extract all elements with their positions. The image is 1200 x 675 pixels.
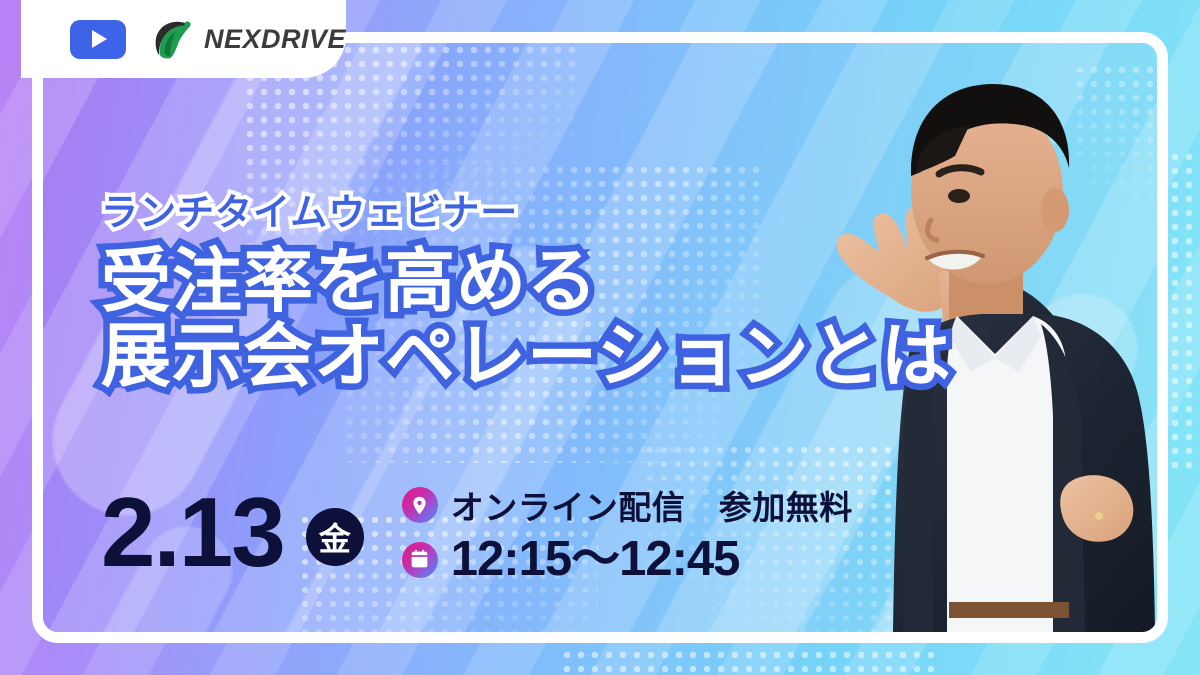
calendar-icon (402, 542, 438, 578)
event-date: 2.13 (101, 488, 284, 576)
weekday-badge: 金 (306, 508, 364, 566)
event-details: オンライン配信 参加無料 12:15〜12:45 (402, 481, 853, 584)
headline-block: ランチタイムウェビナー 受注率を高める 展示会オペレーションとは (101, 193, 952, 396)
location-row: オンライン配信 参加無料 (402, 481, 853, 529)
map-pin-icon (402, 487, 438, 523)
schedule-block: 2.13 金 オンライン配信 参加無料 12:15〜12:45 (101, 481, 853, 584)
webinar-banner: ランチタイムウェビナー 受注率を高める 展示会オペレーションとは 2.13 金 … (0, 0, 1200, 675)
nexdrive-leaf-icon (150, 19, 194, 59)
brand-name: NEXDRIVE (204, 24, 346, 55)
headline-line-1: 受注率を高める (101, 246, 952, 317)
location-text: オンライン配信 参加無料 (451, 481, 853, 529)
halftone-dots-right (1168, 150, 1200, 470)
play-triangle-icon (92, 30, 107, 48)
halftone-dots-bottom (560, 648, 940, 675)
headline-line-2: 展示会オペレーションとは (101, 321, 952, 392)
play-video-icon[interactable] (70, 20, 126, 59)
headline: 受注率を高める 展示会オペレーションとは (101, 246, 952, 393)
eyebrow-text: ランチタイムウェビナー (101, 193, 952, 234)
time-text: 12:15〜12:45 (451, 535, 740, 584)
content-frame: ランチタイムウェビナー 受注率を高める 展示会オペレーションとは 2.13 金 … (32, 32, 1168, 643)
halftone-dots-upper-right (1073, 63, 1168, 263)
time-row: 12:15〜12:45 (402, 535, 853, 584)
brand-lockup: NEXDRIVE (150, 19, 346, 59)
logo-bar: NEXDRIVE (32, 0, 346, 78)
